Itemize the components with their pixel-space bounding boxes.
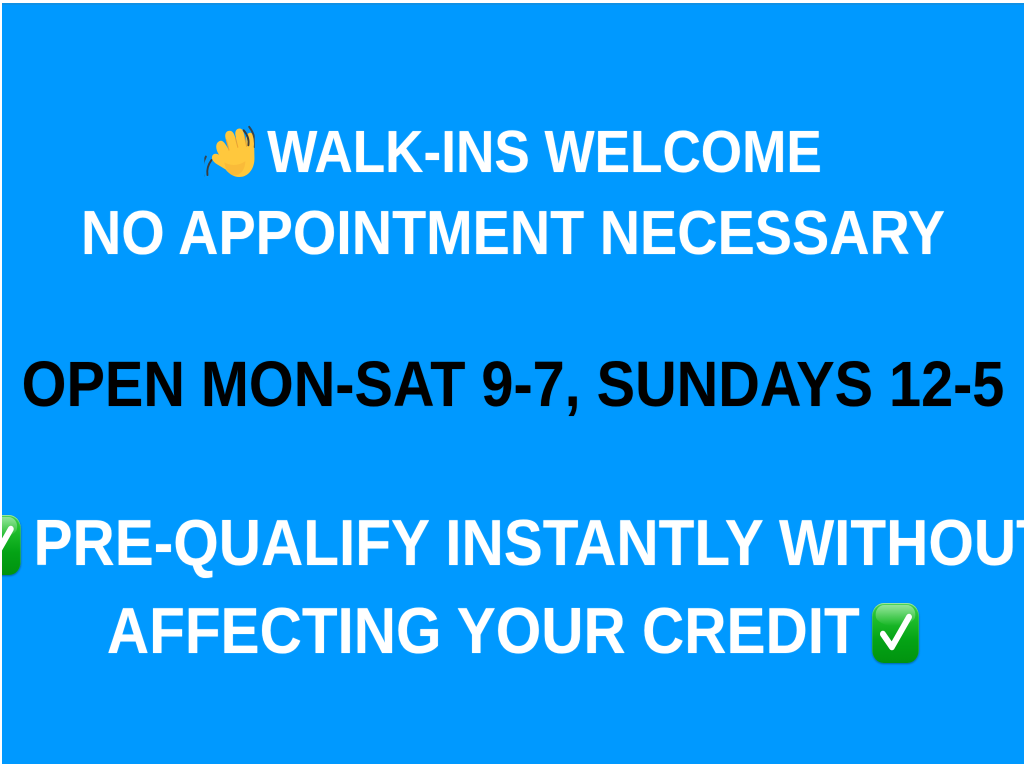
hours-line: OPEN MON-SAT 9-7, SUNDAYS 12-5	[53, 351, 973, 417]
headline-no-appointment-necessary-text: NO APPOINTMENT NECESSARY	[81, 203, 945, 265]
white-check-mark-icon-trailing	[872, 603, 919, 663]
waving-hand-icon	[204, 125, 254, 183]
prequalify-line-two-text: AFFECTING YOUR CREDIT	[107, 598, 860, 663]
prequalify-line-one-text: PRE-QUALIFY INSTANTLY WITHOUT	[34, 510, 1024, 575]
promotional-sign: WALK-INS WELCOME NO APPOINTMENT NECESSAR…	[0, 0, 1024, 768]
prequalify-line-two: AFFECTING YOUR CREDIT	[53, 595, 973, 665]
prequalify-line-one: PRE-QUALIFY INSTANTLY WITHOUT	[53, 507, 973, 577]
headline-walk-ins-welcome-text: WALK-INS WELCOME	[267, 123, 822, 182]
headline-no-appointment-necessary: NO APPOINTMENT NECESSARY	[53, 202, 973, 266]
white-check-mark-icon	[0, 515, 21, 575]
headline-walk-ins-welcome: WALK-INS WELCOME	[53, 121, 973, 183]
hours-line-text: OPEN MON-SAT 9-7, SUNDAYS 12-5	[22, 352, 1005, 416]
